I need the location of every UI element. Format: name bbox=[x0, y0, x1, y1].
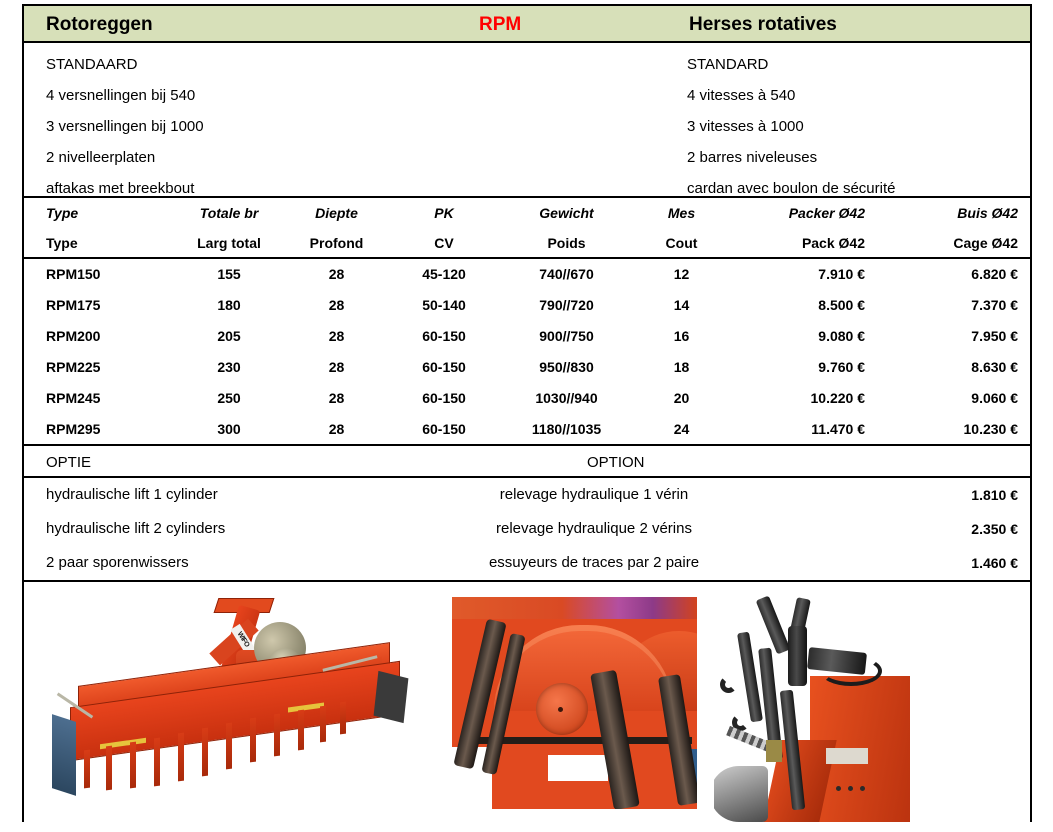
cell-width: 155 bbox=[174, 258, 284, 289]
cell-packer-price: 9.080 € bbox=[729, 320, 879, 351]
rear-roller bbox=[714, 766, 768, 822]
hitch-cap bbox=[766, 740, 782, 762]
cell-blades: 12 bbox=[634, 258, 729, 289]
harrow-tine bbox=[274, 714, 280, 757]
price-table: Type Totale br Diepte PK Gewicht Mes Pac… bbox=[24, 198, 1030, 444]
cell-type: RPM200 bbox=[24, 320, 174, 351]
cell-power: 60-150 bbox=[389, 382, 499, 413]
col-header-cage: Buis Ø42 bbox=[879, 198, 1030, 228]
option-label-french: relevage hydraulique 1 vérin bbox=[344, 478, 844, 512]
col-header-width-fr: Larg total bbox=[174, 228, 284, 258]
option-heading-dutch: OPTIE bbox=[46, 446, 91, 480]
rotor-hub-bolt bbox=[558, 707, 563, 712]
harrow-tine bbox=[178, 733, 184, 782]
option-row: hydraulische lift 2 cylinders relevage h… bbox=[24, 512, 1030, 546]
harrow-tine bbox=[340, 702, 346, 735]
cell-power: 60-150 bbox=[389, 413, 499, 444]
spec-line: 4 versnellingen bij 540 bbox=[46, 80, 204, 111]
cell-weight: 790//720 bbox=[499, 289, 634, 320]
lower-link-hook bbox=[720, 676, 737, 693]
cell-packer-price: 7.910 € bbox=[729, 258, 879, 289]
title-french: Herses rotatives bbox=[689, 6, 837, 43]
option-row: hydraulische lift 1 cylinder relevage hy… bbox=[24, 478, 1030, 512]
cell-power: 60-150 bbox=[389, 320, 499, 351]
cell-type: RPM225 bbox=[24, 351, 174, 382]
cell-blades: 24 bbox=[634, 413, 729, 444]
spec-line: cardan avec boulon de sécurité bbox=[687, 173, 895, 204]
cell-type: RPM295 bbox=[24, 413, 174, 444]
table-header-french: Type Larg total Profond CV Poids Cout Pa… bbox=[24, 228, 1030, 258]
harrow-tine bbox=[84, 750, 90, 789]
cell-width: 250 bbox=[174, 382, 284, 413]
hydraulic-hose bbox=[820, 656, 882, 686]
harrow-tine bbox=[154, 738, 160, 787]
cell-depth: 28 bbox=[284, 413, 389, 444]
title-dutch: Rotoreggen bbox=[46, 6, 153, 43]
photo-band: WIFO bbox=[24, 582, 1030, 828]
spec-line: STANDARD bbox=[687, 49, 895, 80]
spec-line: 4 vitesses à 540 bbox=[687, 80, 895, 111]
title-model: RPM bbox=[479, 6, 521, 43]
table-row: RPM295 300 28 60-150 1180//1035 24 11.47… bbox=[24, 413, 1030, 444]
col-header-blades-fr: Cout bbox=[634, 228, 729, 258]
cell-weight: 1030//940 bbox=[499, 382, 634, 413]
cell-type: RPM245 bbox=[24, 382, 174, 413]
spec-line: aftakas met breekbout bbox=[46, 173, 204, 204]
col-header-depth: Diepte bbox=[284, 198, 389, 228]
option-price: 2.350 € bbox=[971, 512, 1018, 546]
harrow-tine bbox=[250, 718, 256, 763]
cell-cage-price: 6.820 € bbox=[879, 258, 1030, 289]
option-label-dutch: hydraulische lift 2 cylinders bbox=[46, 512, 225, 546]
harrow-tine bbox=[226, 723, 232, 770]
cell-weight: 950//830 bbox=[499, 351, 634, 382]
spec-line: 2 barres niveleuses bbox=[687, 142, 895, 173]
background-blur bbox=[452, 597, 697, 619]
cell-packer-price: 11.470 € bbox=[729, 413, 879, 444]
cell-weight: 740//670 bbox=[499, 258, 634, 289]
option-label-dutch: hydraulische lift 1 cylinder bbox=[46, 478, 218, 512]
cell-power: 60-150 bbox=[389, 351, 499, 382]
option-rows: hydraulische lift 1 cylinder relevage hy… bbox=[24, 478, 1030, 582]
cell-packer-price: 8.500 € bbox=[729, 289, 879, 320]
cell-type: RPM175 bbox=[24, 289, 174, 320]
cell-type: RPM150 bbox=[24, 258, 174, 289]
table-row: RPM200 205 28 60-150 900//750 16 9.080 €… bbox=[24, 320, 1030, 351]
cell-blades: 20 bbox=[634, 382, 729, 413]
table-row: RPM150 155 28 45-120 740//670 12 7.910 €… bbox=[24, 258, 1030, 289]
cell-depth: 28 bbox=[284, 258, 389, 289]
cell-depth: 28 bbox=[284, 320, 389, 351]
option-label-dutch: 2 paar sporenwissers bbox=[46, 546, 189, 580]
table-row: RPM245 250 28 60-150 1030//940 20 10.220… bbox=[24, 382, 1030, 413]
cell-packer-price: 9.760 € bbox=[729, 351, 879, 382]
rotary-harrow-photo: WIFO bbox=[30, 588, 450, 824]
cell-blades: 18 bbox=[634, 351, 729, 382]
cell-cage-price: 10.230 € bbox=[879, 413, 1030, 444]
option-price: 1.460 € bbox=[971, 546, 1018, 580]
option-row: 2 paar sporenwissers essuyeurs de traces… bbox=[24, 546, 1030, 580]
cell-width: 300 bbox=[174, 413, 284, 444]
table-row: RPM175 180 28 50-140 790//720 14 8.500 €… bbox=[24, 289, 1030, 320]
cell-blades: 14 bbox=[634, 289, 729, 320]
cell-packer-price: 10.220 € bbox=[729, 382, 879, 413]
spec-line: STANDAARD bbox=[46, 49, 204, 80]
standard-list-dutch: STANDAARD 4 versnellingen bij 540 3 vers… bbox=[46, 49, 204, 204]
top-link bbox=[756, 595, 791, 654]
harrow-tine bbox=[130, 742, 136, 789]
col-header-power-fr: CV bbox=[389, 228, 499, 258]
title-bar: Rotoreggen RPM Herses rotatives bbox=[24, 6, 1030, 43]
cell-depth: 28 bbox=[284, 351, 389, 382]
cell-cage-price: 9.060 € bbox=[879, 382, 1030, 413]
option-price: 1.810 € bbox=[971, 478, 1018, 512]
cell-weight: 900//750 bbox=[499, 320, 634, 351]
cell-width: 180 bbox=[174, 289, 284, 320]
background-gap bbox=[548, 755, 608, 781]
spec-line: 3 vitesses à 1000 bbox=[687, 111, 895, 142]
frame-bolt bbox=[848, 786, 853, 791]
standard-equipment-block: STANDAARD 4 versnellingen bij 540 3 vers… bbox=[24, 43, 1030, 198]
spec-line: 2 nivelleerplaten bbox=[46, 142, 204, 173]
price-sheet: Rotoreggen RPM Herses rotatives STANDAAR… bbox=[22, 4, 1032, 822]
harrow-tine bbox=[320, 706, 326, 743]
harrow-side-plate bbox=[374, 671, 409, 723]
cell-width: 230 bbox=[174, 351, 284, 382]
option-label-french: relevage hydraulique 2 vérins bbox=[344, 512, 844, 546]
cell-depth: 28 bbox=[284, 382, 389, 413]
option-heading-french: OPTION bbox=[587, 446, 645, 480]
harrow-left-shield bbox=[52, 714, 76, 796]
harrow-tine bbox=[106, 746, 112, 791]
serial-plate bbox=[826, 748, 868, 764]
option-label-french: essuyeurs de traces par 2 paire bbox=[344, 546, 844, 580]
col-header-depth-fr: Profond bbox=[284, 228, 389, 258]
cell-cage-price: 8.630 € bbox=[879, 351, 1030, 382]
hydraulic-cylinder bbox=[788, 626, 807, 686]
cell-width: 205 bbox=[174, 320, 284, 351]
cell-weight: 1180//1035 bbox=[499, 413, 634, 444]
option-heading-row: OPTIE OPTION bbox=[24, 444, 1030, 478]
cell-cage-price: 7.950 € bbox=[879, 320, 1030, 351]
cell-blades: 16 bbox=[634, 320, 729, 351]
gearbox-closeup-photo bbox=[452, 597, 697, 809]
col-header-weight: Gewicht bbox=[499, 198, 634, 228]
col-header-cage-fr: Cage Ø42 bbox=[879, 228, 1030, 258]
lower-link-arm bbox=[737, 632, 763, 723]
frame-bolt bbox=[836, 786, 841, 791]
col-header-packer-fr: Pack Ø42 bbox=[729, 228, 879, 258]
standard-list-french: STANDARD 4 vitesses à 540 3 vitesses à 1… bbox=[687, 49, 895, 204]
spec-line: 3 versnellingen bij 1000 bbox=[46, 111, 204, 142]
cell-power: 50-140 bbox=[389, 289, 499, 320]
col-header-type-fr: Type bbox=[24, 228, 174, 258]
cell-power: 45-120 bbox=[389, 258, 499, 289]
frame-bolt bbox=[860, 786, 865, 791]
col-header-power: PK bbox=[389, 198, 499, 228]
harrow-tine bbox=[202, 728, 208, 777]
cell-cage-price: 7.370 € bbox=[879, 289, 1030, 320]
cell-depth: 28 bbox=[284, 289, 389, 320]
harrow-tine bbox=[298, 710, 304, 751]
col-header-weight-fr: Poids bbox=[499, 228, 634, 258]
table-row: RPM225 230 28 60-150 950//830 18 9.760 €… bbox=[24, 351, 1030, 382]
hitch-closeup-photo bbox=[714, 590, 914, 822]
